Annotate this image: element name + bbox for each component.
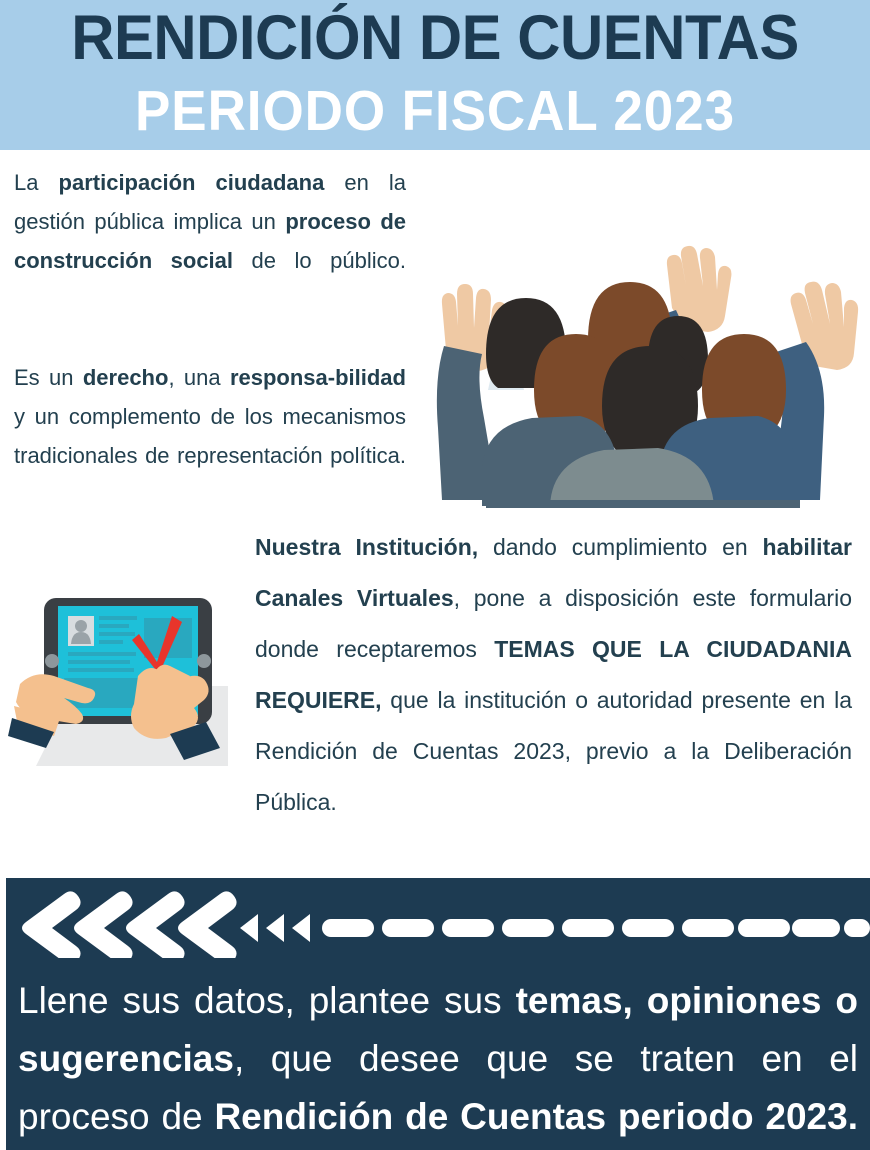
intro-text-block: La participación ciudadana en la gestión…: [14, 163, 406, 514]
small-chevron-icon: [266, 914, 284, 942]
dash: [622, 919, 674, 937]
large-chevron-icon: [126, 891, 185, 958]
intro-p2-part3: y un complemento de los mecanismos tradi…: [14, 404, 406, 468]
intro-p2-bold2: responsa-bilidad: [230, 365, 406, 390]
intro-p2-part1: Es un: [14, 365, 83, 390]
small-chevron-icon: [292, 914, 310, 942]
cta-part1: Llene sus datos, plantee sus: [18, 980, 516, 1021]
intro-p2-part2: , una: [168, 365, 230, 390]
institution-part1: dando cumplimiento en: [478, 534, 762, 560]
institution-paragraph: Nuestra Institución, dando cumplimiento …: [255, 522, 852, 879]
cta-bold2: Rendición de Cuentas periodo 2023.: [214, 1096, 858, 1137]
dash-group: [322, 919, 870, 937]
large-chevron-icon: [22, 891, 81, 958]
page-title: RENDICIÓN DE CUENTAS: [22, 0, 849, 78]
large-chevron-icon: [178, 891, 237, 958]
dash: [502, 919, 554, 937]
chevron-dash-decoration: [6, 888, 870, 958]
intro-paragraph-1: La participación ciudadana en la gestión…: [14, 163, 406, 319]
header-banner: RENDICIÓN DE CUENTAS PERIODO FISCAL 2023: [0, 0, 870, 150]
tablet-with-checkmark-illustration: [6, 566, 246, 786]
intro-p1-part1: La: [14, 170, 59, 195]
cta-text-block: Llene sus datos, plantee sus temas, opin…: [18, 972, 858, 1150]
dash: [382, 919, 434, 937]
dash: [792, 919, 840, 937]
small-chevron-icon: [240, 914, 258, 942]
call-to-action-banner: Llene sus datos, plantee sus temas, opin…: [6, 878, 870, 1150]
institution-text-block: Nuestra Institución, dando cumplimiento …: [255, 522, 852, 879]
intro-p1-bold1: participación ciudadana: [59, 170, 325, 195]
dash: [562, 919, 614, 937]
page-subtitle: PERIODO FISCAL 2023: [30, 76, 839, 146]
dash: [442, 919, 494, 937]
dash: [322, 919, 374, 937]
dash: [738, 919, 790, 937]
institution-bold1: Nuestra Institución,: [255, 534, 478, 560]
intro-paragraph-2: Es un derecho, una responsa-bilidad y un…: [14, 358, 406, 514]
dash: [844, 919, 870, 937]
cta-paragraph: Llene sus datos, plantee sus temas, opin…: [18, 972, 858, 1150]
intro-p2-bold1: derecho: [83, 365, 169, 390]
people-raising-hands-illustration: [424, 238, 864, 518]
large-chevron-icon-group: [22, 891, 237, 958]
large-chevron-icon: [74, 891, 133, 958]
dash: [682, 919, 734, 937]
intro-p1-part3: de lo público.: [233, 248, 406, 273]
small-chevron-icon-group: [240, 914, 310, 942]
